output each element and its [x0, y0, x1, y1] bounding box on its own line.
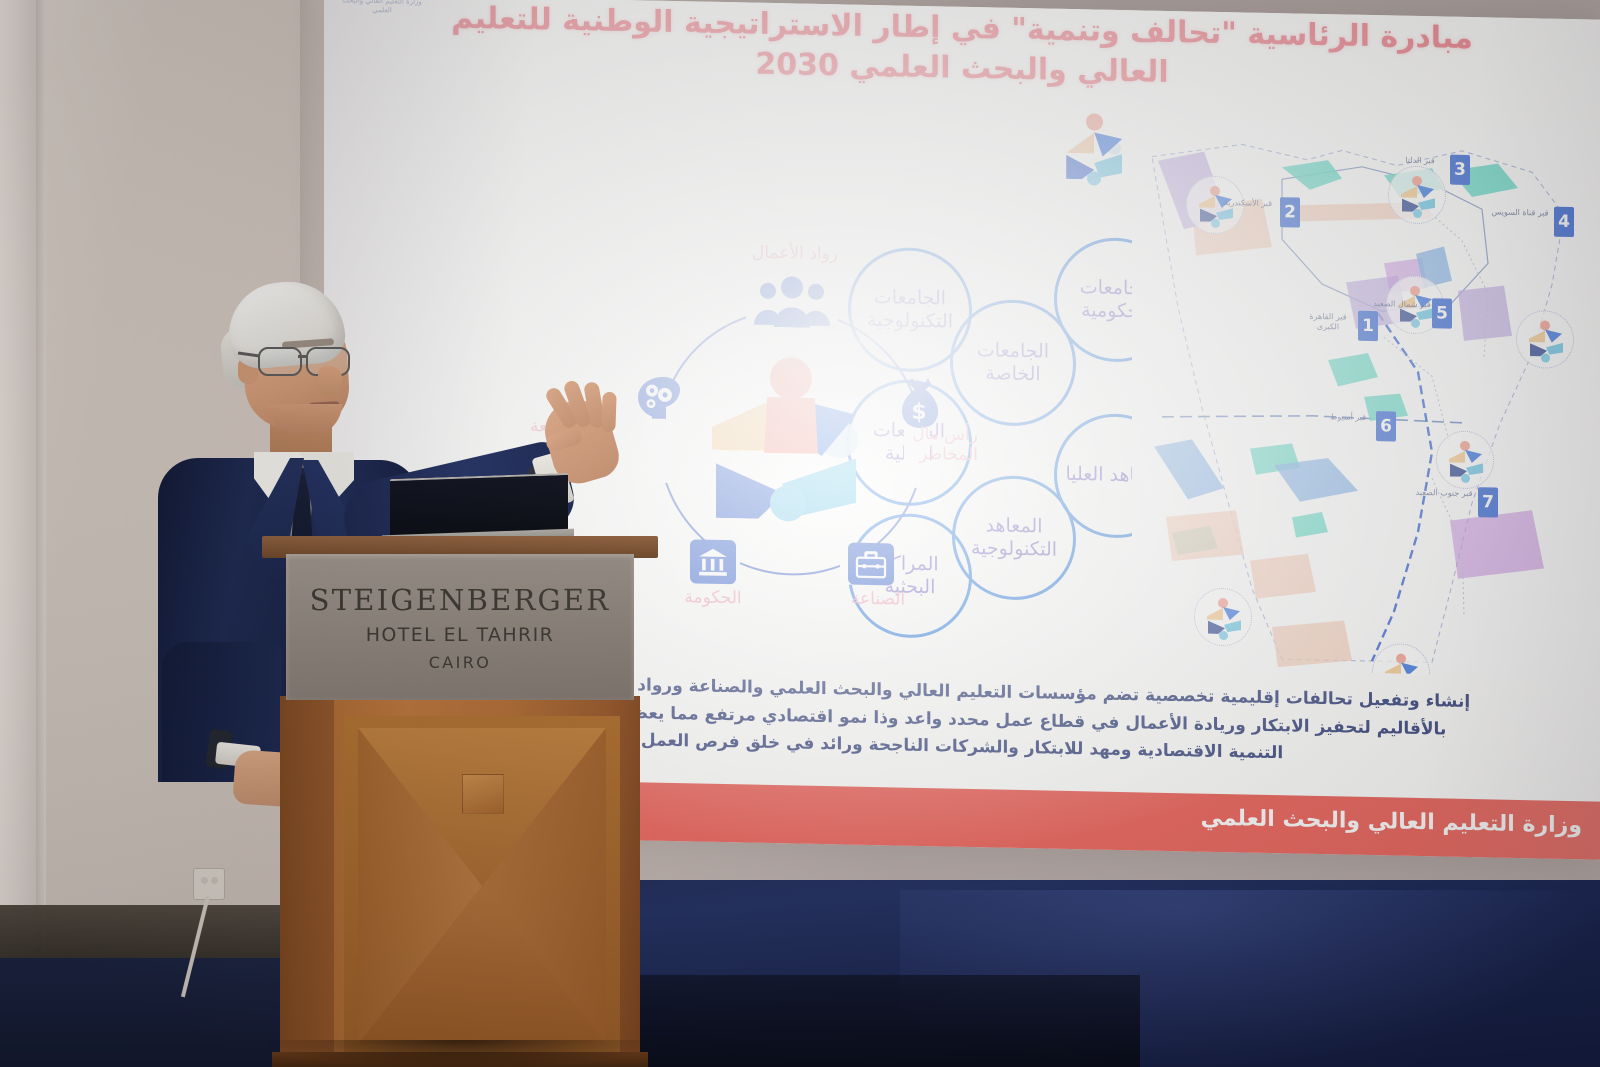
ecosystem-label-entrepreneurs: رواد الأعمال — [720, 242, 870, 265]
industry-briefcase-icon — [848, 543, 894, 586]
entrepreneurs-people-icon — [750, 275, 834, 329]
plaque-hotel-name: HOTEL EL TAHRIR — [366, 624, 555, 646]
innovation-ecosystem-diagram: $ — [612, 236, 968, 635]
conference-photo: وزارة التعليم العالي والبحث العلمي مبادر… — [0, 0, 1600, 1067]
baseboard — [0, 905, 300, 963]
plaque-hotel-city: CAIRO — [429, 653, 492, 672]
podium-side-panel — [280, 696, 334, 1067]
government-bank-icon — [690, 539, 736, 584]
map-marker-label-5: قبر شمال الصعيد — [1372, 299, 1432, 310]
map-marker-label-2: قبر الأسكندرية — [1218, 198, 1278, 209]
map-marker-label-6: قبر أسيوط — [1318, 412, 1378, 423]
hotel-name-plaque: STEIGENBERGER HOTEL EL TAHRIR CAIRO — [286, 554, 634, 700]
venture-capital-money-bag-icon: $ — [898, 374, 942, 431]
innovation-brain-gears-icon — [634, 374, 684, 421]
podium-diamond-inlay — [358, 728, 606, 1044]
slide-title: مبادرة الرئاسية "تحالف وتنمية" في إطار ا… — [324, 0, 1600, 101]
map-marker-number-1: 1 — [1358, 311, 1378, 341]
map-marker-label-4: قبر قناة السويس — [1490, 207, 1550, 218]
speaking-podium: STEIGENBERGER HOTEL EL TAHRIR CAIRO — [262, 536, 658, 1067]
ecosystem-label-government: الحكومة — [648, 587, 778, 610]
map-marker-number-7: 7 — [1478, 487, 1498, 517]
podium-shadow — [262, 1040, 662, 1067]
map-marker-label-7: قبر جنوب الصعيد — [1414, 488, 1474, 499]
plaque-hotel-brand: STEIGENBERGER — [310, 583, 611, 617]
ecosystem-label-venture-capital: رأس مال المخاطر — [892, 423, 978, 466]
ecosystem-label-industry: الصناعة — [828, 588, 928, 610]
eyeglasses-icon — [254, 344, 358, 376]
map-marker-number-6: 6 — [1376, 411, 1396, 441]
map-marker-number-3: 3 — [1450, 155, 1470, 185]
map-marker-number-5: 5 — [1432, 298, 1452, 328]
carpet-shadow — [620, 975, 1140, 1067]
finger — [601, 392, 616, 432]
power-outlet — [193, 868, 225, 900]
ecosystem-center-figure-icon — [712, 356, 868, 531]
alliance-logo-mark-icon — [1060, 111, 1126, 186]
map-marker-number-4: 4 — [1554, 207, 1574, 237]
map-marker-label-1: قبر القاهرة الكبرى — [1298, 312, 1358, 333]
egypt-regional-clusters-map: 1 قبر القاهرة الكبرى 2 قبر الأسكندرية 3 … — [1132, 116, 1584, 677]
map-marker-label-3: قبر الدلتا — [1390, 155, 1450, 166]
svg-text:$: $ — [911, 400, 926, 425]
map-marker-number-2: 2 — [1280, 197, 1300, 227]
slide-footer-label: وزارة التعليم العالي والبحث العلمي — [1201, 806, 1582, 839]
